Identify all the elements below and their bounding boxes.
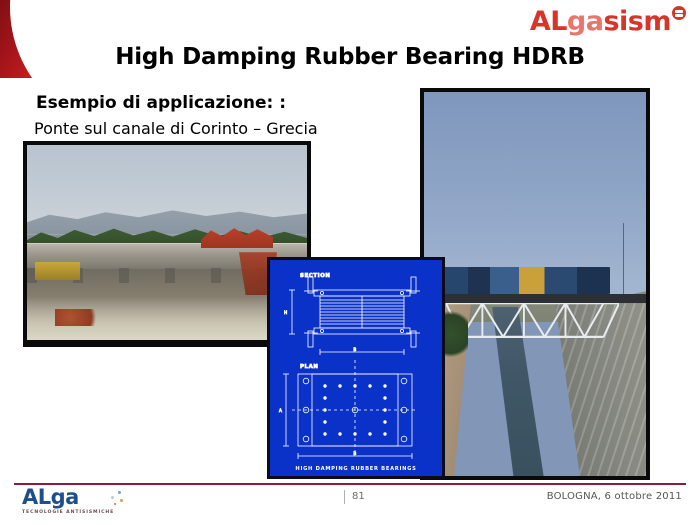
photo-red-rocks [55,309,105,327]
photo-yellow-machinery [35,262,80,280]
hdrb-blueprint-inner: SECTION [270,260,442,476]
slide-canvas: ALgasism High Damping Rubber Bearing HDR… [0,0,700,525]
algasism-wordmark-part2: ga [567,6,604,37]
algasism-registered-mark-icon [672,6,686,20]
example-heading: Esempio di applicazione: : [36,93,286,113]
footer-location-date: BOLOGNA, 6 ottobre 2011 [547,491,682,502]
canal-photo-utility-pole [623,223,624,300]
alga-footer-logo: ALga TECNOLOGIE ANTISISMICHE [22,487,127,520]
algasism-wordmark-part1: AL [530,6,567,37]
algasism-logo: ALgasism [530,8,686,42]
blueprint-section-label: SECTION [300,273,331,279]
blueprint-plan-width-dim: B [353,451,356,456]
corinth-canal-photo [420,88,650,480]
blueprint-plan-label: PLAN [300,364,318,370]
blueprint-section-width-dim: B [353,347,356,352]
algasism-wordmark-part3: sism [603,6,671,37]
alga-logo-dots-icon [109,491,125,507]
algasism-wordmark: ALgasism [530,8,671,35]
blueprint-caption: HIGH DAMPING RUBBER BEARINGS [295,466,416,472]
page-number: 81 [352,491,365,502]
canal-photo-train [428,267,610,295]
alga-tagline: TECNOLOGIE ANTISISMICHE [22,510,127,515]
algasism-mark-bar-top [675,10,683,13]
footer-divider [14,483,686,485]
blueprint-plan-height-dim: A [279,408,282,413]
algasism-mark-bar-bottom [675,14,683,17]
page-title: High Damping Rubber Bearing HDRB [0,44,700,70]
blueprint-section-height-dim: H [284,310,287,315]
example-subtitle: Ponte sul canale di Corinto – Grecia [34,119,318,138]
bridge-construction-photo-frame [27,145,307,340]
corinth-canal-photo-frame [424,92,646,476]
algasism-mark-disc [672,6,686,20]
canal-photo-rail-deck [424,294,646,303]
canal-photo-truss-bridge [446,301,619,343]
footer-page-divider [344,490,345,504]
hdrb-blueprint-drawing: SECTION [267,257,445,479]
